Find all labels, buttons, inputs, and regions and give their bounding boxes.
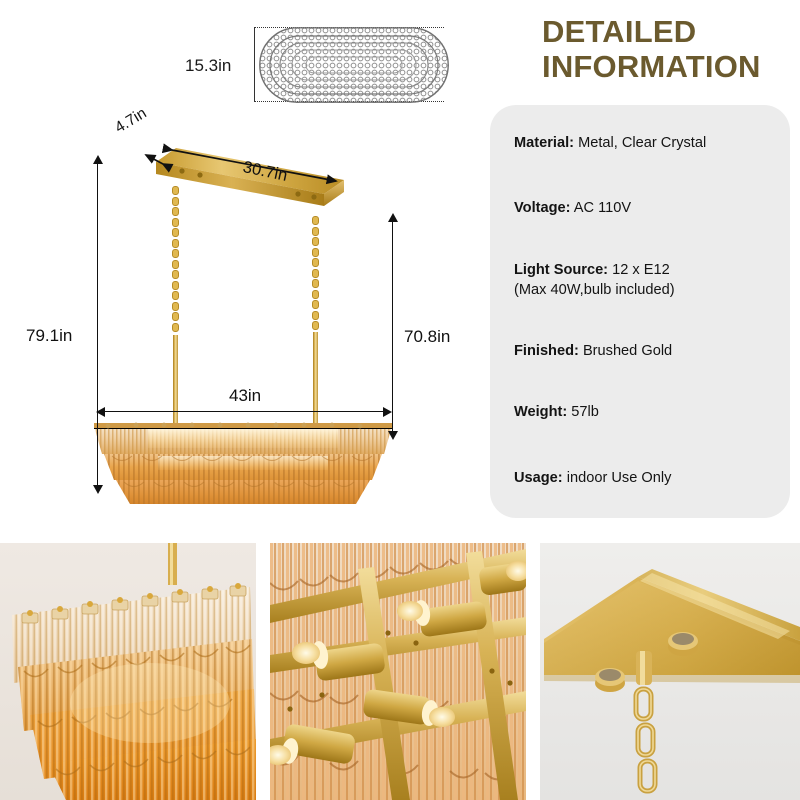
total-height-dimension-line	[97, 162, 98, 492]
spec-value-finished: Brushed Gold	[583, 343, 672, 359]
fixture-height-label: 70.8in	[404, 327, 450, 347]
photo-ceiling-canopy	[540, 543, 800, 800]
spec-value-light-source: 12 x E12	[612, 262, 670, 278]
spec-subvalue-light-source: (Max 40W,bulb included)	[514, 280, 782, 300]
total-height-label: 79.1in	[26, 326, 72, 346]
spec-value-material: Metal, Clear Crystal	[578, 135, 706, 151]
body-width-arrow-left	[96, 407, 105, 417]
photo-brass-frame-bulbs	[270, 543, 526, 800]
spec-value-weight: 57lb	[571, 404, 599, 420]
total-height-arrow-bottom	[93, 485, 103, 494]
total-height-arrow-top	[93, 155, 103, 164]
fixture-height-dimension-line	[392, 220, 393, 438]
front-elevation-diagram: 79.1in 70.8in 43in 4.7in 30.7in	[0, 0, 480, 540]
spec-label-usage: Usage:	[514, 470, 563, 486]
spec-value-usage: indoor Use Only	[567, 470, 672, 486]
chandelier-crystal-body	[88, 420, 398, 510]
suspension-chain-right	[312, 216, 319, 332]
photo-crystal-tiers	[0, 543, 256, 800]
page-title-line1: DETAILED	[542, 14, 696, 49]
page-title-line2: INFORMATION	[542, 49, 792, 84]
suspension-chain-left	[172, 186, 179, 333]
product-diagram-area: 15.3in	[0, 0, 800, 540]
spec-row-usage: Usage: indoor Use Only	[514, 468, 782, 488]
body-width-dimension-line	[100, 411, 388, 412]
spec-label-voltage: Voltage:	[514, 200, 571, 216]
specification-panel: DETAILED INFORMATION Material: Metal, Cl…	[480, 0, 800, 540]
spec-label-light-source: Light Source:	[514, 262, 608, 278]
spec-row-weight: Weight: 57lb	[514, 402, 782, 422]
canopy-depth-label: 4.7in	[112, 105, 150, 138]
suspension-rod-right	[313, 332, 318, 430]
suspension-rod-left	[173, 335, 178, 427]
spec-row-voltage: Voltage: AC 110V	[514, 198, 782, 218]
page-title: DETAILED INFORMATION	[542, 14, 792, 84]
spec-row-finished: Finished: Brushed Gold	[514, 341, 782, 361]
spec-row-material: Material: Metal, Clear Crystal	[514, 133, 782, 153]
product-photo-strip	[0, 543, 800, 800]
body-width-label: 43in	[229, 386, 261, 406]
fixture-height-arrow-bottom	[388, 431, 398, 440]
spec-label-finished: Finished:	[514, 343, 579, 359]
spec-label-material: Material:	[514, 135, 574, 151]
spec-row-light-source: Light Source: 12 x E12 (Max 40W,bulb inc…	[514, 260, 782, 300]
spec-value-voltage: AC 110V	[574, 200, 631, 216]
specification-card: Material: Metal, Clear Crystal Voltage: …	[490, 105, 790, 518]
fixture-height-arrow-top	[388, 213, 398, 222]
body-width-arrow-right	[383, 407, 392, 417]
spec-label-weight: Weight:	[514, 404, 567, 420]
